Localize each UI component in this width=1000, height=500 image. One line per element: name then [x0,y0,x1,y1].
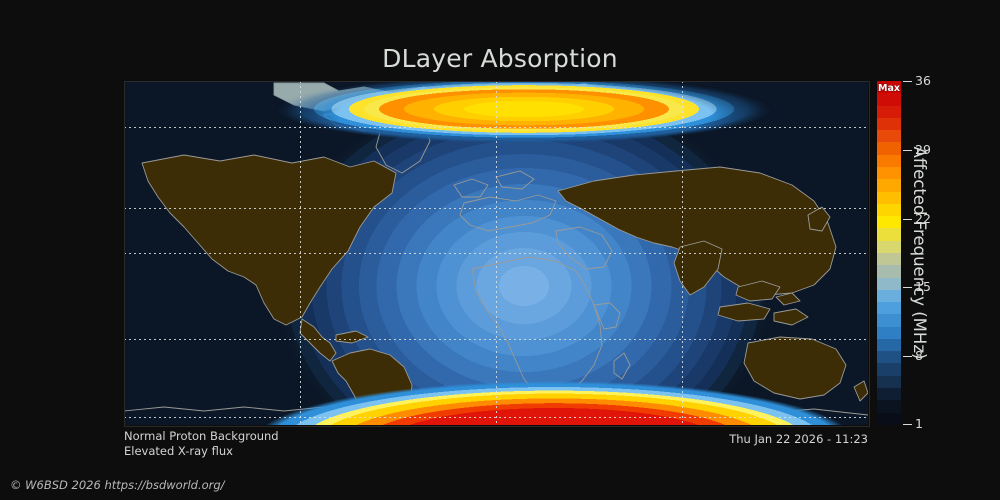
colorbar-step [877,241,901,253]
colorbar-step [877,351,901,363]
colorbar-step [877,327,901,339]
colorbar-step [877,228,901,240]
colorbar-step [877,118,901,130]
colorbar-step [877,106,901,118]
colorbar-step [877,290,901,302]
gridline-lon-90e [682,81,683,425]
colorbar-step [877,216,901,228]
colorbar-axis-label: Affected Frequency (MHz) [905,81,933,425]
xray-status-text: Elevated X-ray flux [124,444,279,459]
gridline-lon-90w [300,81,301,425]
colorbar-step [877,314,901,326]
colorbar-step [877,192,901,204]
world-map-plot[interactable] [124,81,868,425]
status-annotations: Normal Proton Background Elevated X-ray … [124,429,279,459]
footer-credit: © W6BSD 2026 https://bsdworld.org/ [10,478,225,492]
colorbar-step [877,167,901,179]
colorbar-step [877,130,901,142]
colorbar-step [877,93,901,105]
colorbar-step [877,179,901,191]
gridline-lon-0 [496,81,497,425]
colorbar[interactable]: Max [877,81,901,425]
colorbar-step [877,265,901,277]
colorbar-step [877,142,901,154]
colorbar-step [877,363,901,375]
colorbar-step [877,376,901,388]
colorbar-step [877,204,901,216]
colorbar-step [877,413,901,425]
colorbar-step [877,278,901,290]
colorbar-step [877,400,901,412]
colorbar-step [877,155,901,167]
colorbar-step [877,388,901,400]
colorbar-max-label: Max [878,83,900,94]
colorbar-gradient [877,81,901,425]
colorbar-step [877,339,901,351]
dlayer-absorption-app: DLayer Absorption [0,0,1000,500]
timestamp-label: Thu Jan 22 2026 - 11:23 [560,432,868,446]
colorbar-step [877,253,901,265]
colorbar-step [877,302,901,314]
page-title: DLayer Absorption [0,44,1000,73]
proton-status-text: Normal Proton Background [124,429,279,444]
